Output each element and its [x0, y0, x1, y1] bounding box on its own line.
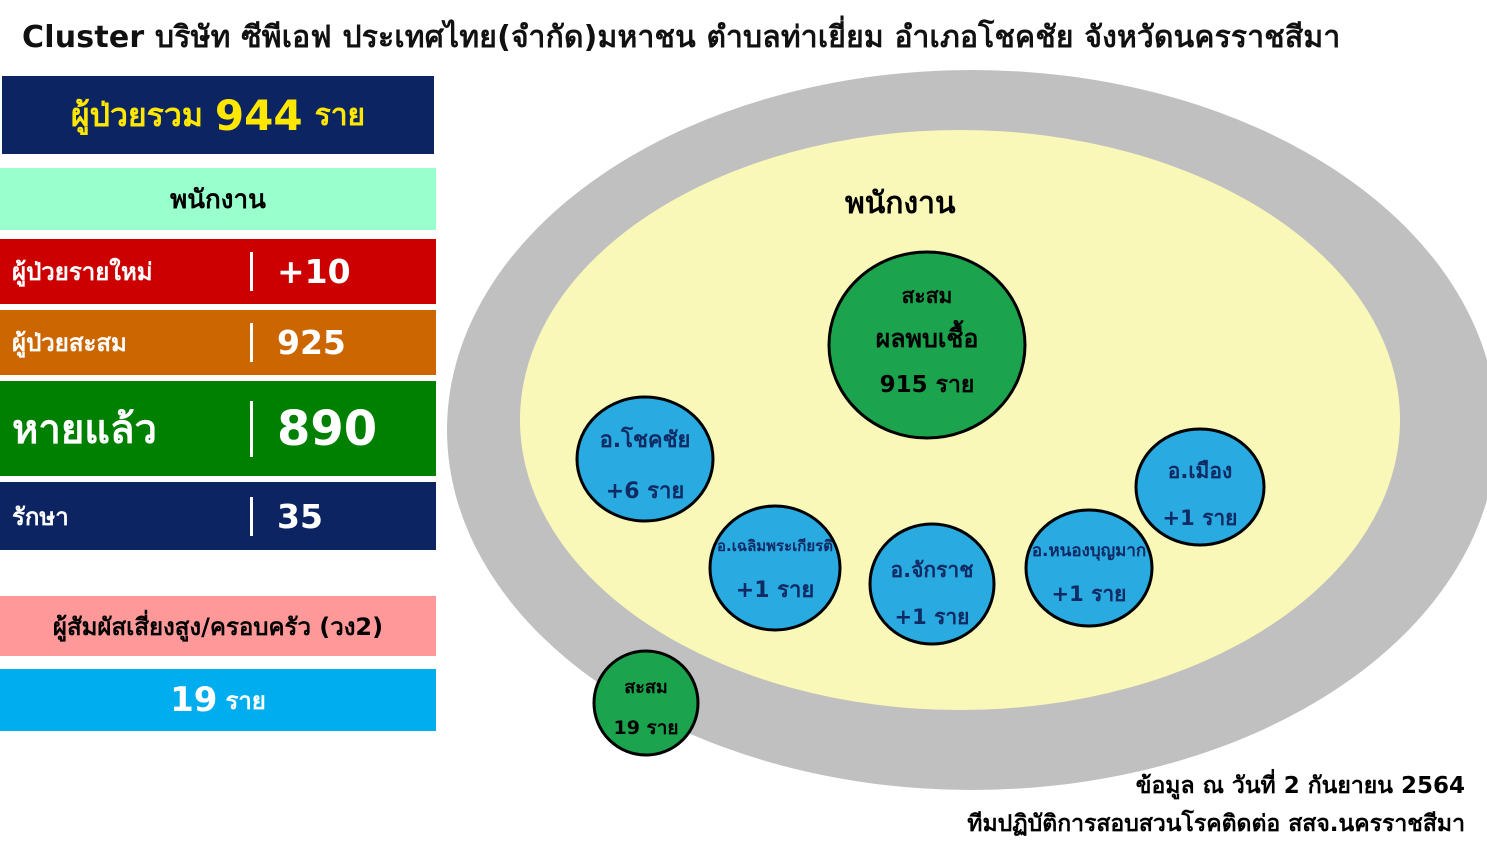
accumulated-cases-value-cell: 925: [250, 323, 436, 362]
circle-district-chaloem-phra-kiat: [710, 506, 840, 630]
recovered-value: 890: [277, 401, 377, 457]
recovered-label-cell: หายแล้ว: [0, 397, 250, 461]
row-employee-header: พนักงาน: [0, 168, 436, 230]
circle-district-chakkarat: [870, 524, 994, 644]
new-cases-value-cell: +10: [250, 252, 436, 291]
row-recovered: หายแล้ว 890: [0, 381, 436, 479]
ellipse-label-employee: พนักงาน: [845, 180, 955, 227]
high-risk-contacts-label: ผู้สัมผัสเสี่ยงสูง/ครอบครัว (วง2): [53, 607, 383, 646]
high-risk-contacts-unit: ราย: [225, 681, 265, 720]
accumulated-cases-label: ผู้ป่วยสะสม: [12, 323, 127, 362]
total-cases-label: ผู้ป่วยรวม: [71, 90, 203, 141]
row-new-cases: ผู้ป่วยรายใหม่ +10: [0, 239, 436, 307]
row-total-cases: ผู้ป่วยรวม 944 ราย: [0, 74, 436, 156]
recovered-label: หายแล้ว: [12, 397, 157, 461]
accumulated-cases-value: 925: [277, 323, 346, 362]
row-high-risk-contacts-header: ผู้สัมผัสเสี่ยงสูง/ครอบครัว (วง2): [0, 596, 436, 656]
new-cases-label-cell: ผู้ป่วยรายใหม่: [0, 252, 250, 291]
employee-header-label: พนักงาน: [170, 179, 266, 220]
total-cases-unit: ราย: [315, 92, 366, 139]
row-accumulated-cases: ผู้ป่วยสะสม 925: [0, 310, 436, 378]
circle-district-chokchai: [577, 397, 713, 521]
under-treatment-value-cell: 35: [250, 497, 436, 536]
circle-accumulated-infected: [829, 252, 1025, 438]
footer-team-name: ทีมปฏิบัติการสอบสวนโรคติดต่อ สสจ.นครราชส…: [967, 806, 1465, 842]
under-treatment-label-cell: รักษา: [0, 497, 250, 536]
row-under-treatment: รักษา 35: [0, 482, 436, 550]
new-cases-label: ผู้ป่วยรายใหม่: [12, 252, 153, 291]
row-high-risk-contacts-value: 19 ราย: [0, 669, 436, 731]
accumulated-cases-label-cell: ผู้ป่วยสะสม: [0, 323, 250, 362]
footer-data-date: ข้อมูล ณ วันที่ 2 กันยายน 2564: [1136, 768, 1465, 804]
total-cases-value: 944: [215, 91, 303, 140]
under-treatment-value: 35: [277, 497, 323, 536]
under-treatment-label: รักษา: [12, 497, 69, 536]
circle-accumulated-contacts: [594, 651, 698, 755]
circle-district-nong-bun-mak: [1026, 510, 1152, 626]
high-risk-contacts-value: 19: [170, 680, 217, 720]
recovered-value-cell: 890: [250, 401, 436, 457]
new-cases-value: +10: [277, 252, 351, 291]
circle-district-mueang: [1136, 429, 1264, 545]
